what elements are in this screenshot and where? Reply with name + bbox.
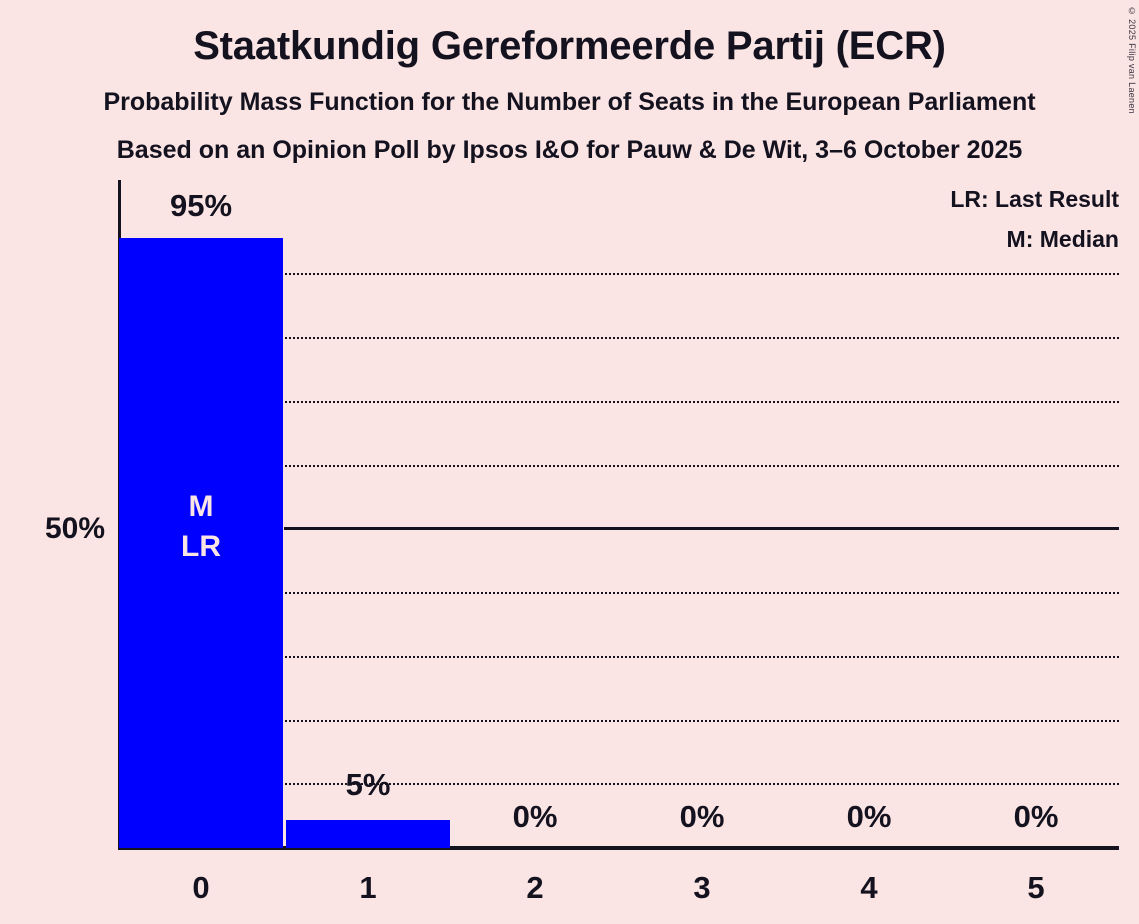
pmf-chart: © 2025 Filip van Laenen Staatkundig Gere… (0, 0, 1139, 924)
bar-value-5: 0% (954, 799, 1118, 835)
bar-value-2: 0% (453, 799, 617, 835)
bar-value-1: 5% (286, 767, 450, 803)
legend-last-result: LR: Last Result (950, 186, 1119, 213)
bar-value-3: 0% (620, 799, 784, 835)
chart-source-line: Based on an Opinion Poll by Ipsos I&O fo… (0, 136, 1139, 165)
gridline-90 (170, 273, 1119, 275)
last-result-marker-seats-0: LR (119, 530, 283, 564)
bar-value-4: 0% (787, 799, 951, 835)
legend-median: M: Median (1007, 226, 1119, 253)
x-tick-4: 4 (787, 870, 951, 906)
x-tick-2: 2 (453, 870, 617, 906)
x-tick-0: 0 (119, 870, 283, 906)
chart-title: Staatkundig Gereformeerde Partij (ECR) (0, 24, 1139, 69)
gridline-80 (170, 337, 1119, 339)
gridline-70 (170, 401, 1119, 403)
median-marker-seats-0: M (119, 490, 283, 524)
bar-seats-1[interactable] (286, 820, 450, 848)
x-tick-3: 3 (620, 870, 784, 906)
gridline-60 (170, 465, 1119, 467)
x-tick-5: 5 (954, 870, 1118, 906)
chart-subtitle: Probability Mass Function for the Number… (0, 88, 1139, 117)
bar-value-0: 95% (119, 188, 283, 224)
gridline-50-median-line (284, 527, 1119, 530)
gridline-20 (170, 720, 1119, 722)
y-axis-label-50: 50% (10, 512, 105, 546)
gridline-30 (170, 656, 1119, 658)
x-tick-1: 1 (286, 870, 450, 906)
gridline-40 (170, 592, 1119, 594)
